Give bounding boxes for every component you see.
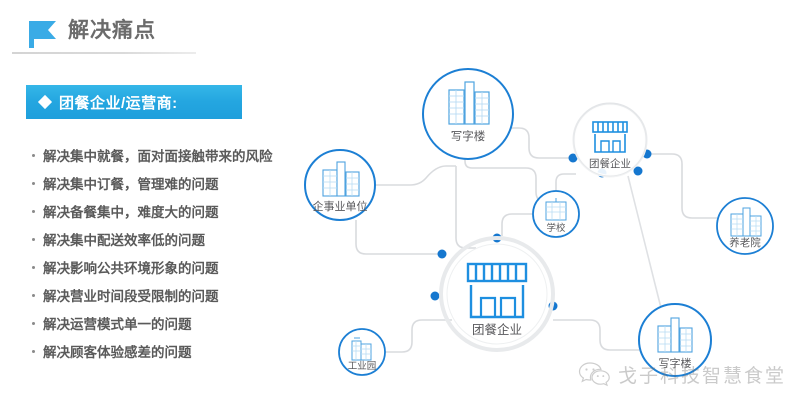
bullet-dot-icon <box>32 182 35 185</box>
list-item-label: 解决营业时间段受限制的问题 <box>43 283 219 311</box>
wechat-icon <box>578 360 612 388</box>
flag-icon <box>26 19 59 49</box>
bullet-dot-icon <box>32 294 35 297</box>
list-item-label: 解决运营模式单一的问题 <box>43 311 192 339</box>
node-label: 写字楼 <box>451 129 486 143</box>
node-label: 学校 <box>546 222 566 234</box>
list-item-label: 解决影响公共环境形象的问题 <box>43 255 219 283</box>
list-item-label: 解决集中配送效率低的问题 <box>43 227 205 255</box>
list-item: 解决顾客体验感差的问题 <box>30 339 290 367</box>
diagram-node-industrial-park[interactable]: 工业园 <box>339 329 385 375</box>
bullet-dot-icon <box>32 322 35 325</box>
diagram-node-office-top[interactable]: 写字楼 <box>423 69 513 159</box>
bullet-dot-icon <box>32 154 35 157</box>
diagram-node-enterprise-unit[interactable]: 企事业单位 <box>305 150 375 220</box>
node-label: 养老院 <box>729 236 761 249</box>
list-item-label: 解决集中订餐，管理难的问题 <box>43 171 219 199</box>
list-item: 解决集中就餐，面对面接触带来的风险 <box>30 143 290 171</box>
bullet-dot-icon <box>32 266 35 269</box>
bullet-dot-icon <box>32 210 35 213</box>
list-item: 解决备餐集中，难度大的问题 <box>30 199 290 227</box>
list-item-label: 解决集中就餐，面对面接触带来的风险 <box>43 143 273 171</box>
diamond-icon <box>38 95 52 109</box>
section-banner: 团餐企业/运营商: <box>26 85 242 119</box>
diagram-node-nursing-home[interactable]: 养老院 <box>717 198 773 254</box>
diagram-node-catering-main[interactable]: 团餐企业 <box>441 238 553 350</box>
node-label: 团餐企业 <box>589 157 631 170</box>
watermark: 戈子科技智慧食堂 <box>578 360 786 388</box>
bullet-dot-icon <box>32 350 35 353</box>
watermark-label: 戈子科技智慧食堂 <box>618 361 786 388</box>
title-underline <box>12 52 196 54</box>
list-item-label: 解决备餐集中，难度大的问题 <box>43 199 219 227</box>
node-label: 团餐企业 <box>472 322 522 337</box>
list-item: 解决集中配送效率低的问题 <box>30 227 290 255</box>
node-label: 企事业单位 <box>313 199 368 213</box>
bullet-dot-icon <box>32 238 35 241</box>
list-item-label: 解决顾客体验感差的问题 <box>43 339 192 367</box>
list-item: 解决营业时间段受限制的问题 <box>30 283 290 311</box>
diagram-node-school[interactable]: 学校 <box>533 191 579 237</box>
page-title: 解决痛点 <box>68 14 156 44</box>
network-diagram: 写字楼 企事业单位 <box>290 30 799 414</box>
list-item: 解决运营模式单一的问题 <box>30 311 290 339</box>
pain-point-list: 解决集中就餐，面对面接触带来的风险 解决集中订餐，管理难的问题 解决备餐集中，难… <box>30 143 290 367</box>
diagram-node-catering-top[interactable]: 团餐企业 <box>574 104 646 176</box>
section-banner-label: 团餐企业/运营商: <box>59 92 178 113</box>
list-item: 解决集中订餐，管理难的问题 <box>30 171 290 199</box>
node-label: 工业园 <box>348 361 377 372</box>
list-item: 解决影响公共环境形象的问题 <box>30 255 290 283</box>
slide-canvas: 解决痛点 团餐企业/运营商: 解决集中就餐，面对面接触带来的风险 解决集中订餐，… <box>0 0 799 414</box>
